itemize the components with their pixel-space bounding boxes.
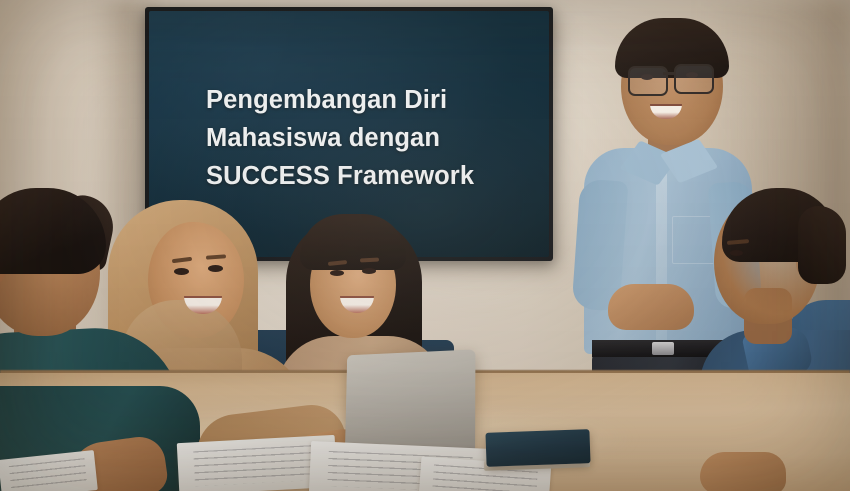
student-denim-hair-side bbox=[798, 206, 846, 284]
slide-title: Pengembangan Diri Mahasiswa dengan SUCCE… bbox=[206, 81, 525, 195]
student-laptop-eye-right bbox=[362, 268, 376, 274]
lecturer-clasped-hands bbox=[608, 284, 694, 330]
document-text-lines bbox=[8, 458, 87, 491]
student-laptop-eye-left bbox=[330, 270, 344, 276]
eyeglasses-icon bbox=[628, 66, 668, 96]
student-denim-hands bbox=[700, 452, 786, 491]
slide-title-line-2: Mahasiswa dengan bbox=[206, 119, 525, 157]
slide-title-line-1: Pengembangan Diri bbox=[206, 81, 525, 119]
eyeglasses-bridge bbox=[663, 72, 676, 75]
document-text-lines bbox=[193, 445, 321, 486]
presentation-room-photo: Pengembangan Diri Mahasiswa dengan SUCCE… bbox=[0, 0, 850, 491]
student-hijab-eye-right bbox=[208, 265, 223, 272]
student-denim-eye bbox=[730, 250, 743, 256]
slide-title-line-3: SUCCESS Framework bbox=[206, 157, 525, 195]
lecturer-belt-buckle bbox=[652, 342, 674, 355]
eyeglasses-lens-right bbox=[674, 64, 714, 94]
notebook[interactable] bbox=[485, 429, 590, 467]
student-hijab-eye-left bbox=[174, 268, 189, 275]
